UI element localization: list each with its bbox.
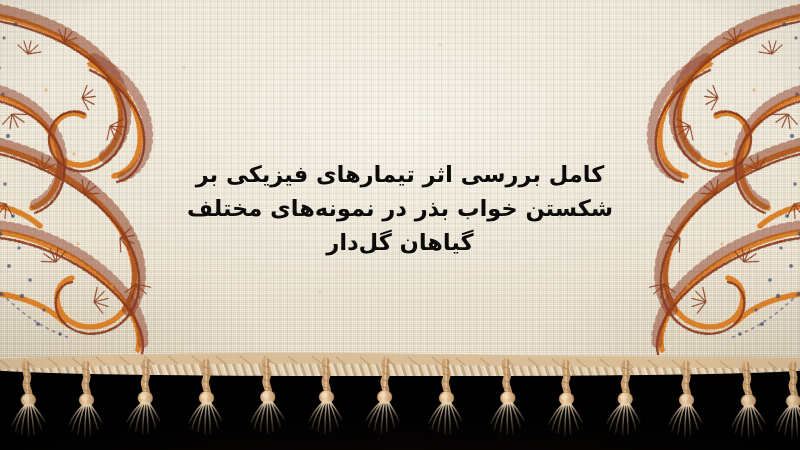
knotted-tassel-fringe: [0, 350, 800, 450]
title-card-image: کامل بررسی اثر تیمارهای فیزیکی بر شکستن …: [0, 0, 800, 450]
linen-fabric-panel: کامل بررسی اثر تیمارهای فیزیکی بر شکستن …: [0, 0, 800, 374]
page-title: کامل بررسی اثر تیمارهای فیزیکی بر شکستن …: [0, 158, 800, 260]
title-line-1: کامل بررسی اثر تیمارهای فیزیکی بر: [0, 158, 800, 192]
title-line-3: گیاهان گل‌دار: [0, 226, 800, 260]
title-line-2: شکستن خواب بذر در نمونه‌های مختلف: [0, 192, 800, 226]
